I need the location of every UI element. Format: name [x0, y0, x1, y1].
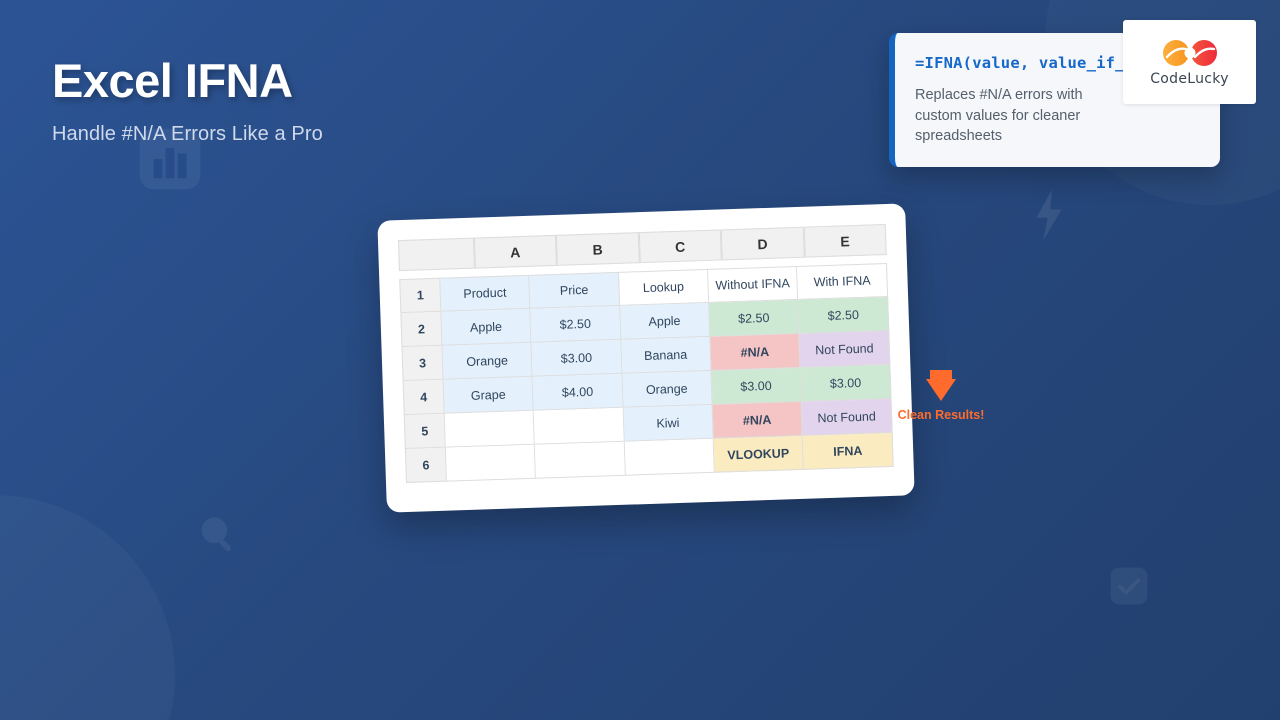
cell-D4[interactable]: $3.00 [711, 368, 801, 405]
row-number-cell[interactable]: 2 [400, 312, 442, 347]
spreadsheet-grid-body: 1ProductPriceLookupWithout IFNAWith IFNA… [399, 263, 893, 483]
cell-B6[interactable] [535, 442, 625, 479]
down-arrow-icon [926, 379, 956, 401]
cell-A3[interactable]: Orange [442, 343, 532, 380]
cell-A1[interactable]: Product [440, 275, 530, 312]
row-number-cell[interactable]: 5 [404, 414, 446, 449]
cell-E2[interactable]: $2.50 [798, 297, 889, 334]
formula-description: Replaces #N/A errors with custom values … [915, 85, 1105, 147]
cell-A2[interactable]: Apple [441, 309, 531, 346]
cell-B2[interactable]: $2.50 [531, 306, 621, 343]
page-subtitle: Handle #N/A Errors Like a Pro [52, 123, 672, 146]
cell-C4[interactable]: Orange [622, 371, 712, 408]
page-title: Excel IFNA [52, 56, 672, 107]
cell-B5[interactable] [534, 408, 624, 445]
column-header-b[interactable]: B [556, 232, 639, 266]
cell-A5[interactable] [445, 411, 535, 448]
cell-B4[interactable]: $4.00 [533, 374, 623, 411]
row-number-cell[interactable]: 6 [405, 448, 447, 483]
annotation-label: Clean Results! [893, 408, 989, 422]
clean-results-annotation: Clean Results! [893, 370, 989, 422]
cell-D6[interactable]: VLOOKUP [714, 436, 804, 473]
row-number-cell[interactable]: 4 [403, 380, 445, 415]
cell-A4[interactable]: Grape [444, 377, 534, 414]
column-header-c[interactable]: C [638, 229, 721, 263]
codelucky-watermark: CodeLucky [1123, 20, 1256, 104]
cell-D5[interactable]: #N/A [712, 402, 802, 439]
cell-B1[interactable]: Price [529, 272, 619, 309]
watermark-label: CodeLucky [1150, 71, 1229, 87]
cell-C5[interactable]: Kiwi [623, 405, 713, 442]
background-circle-bottom-left [0, 495, 175, 720]
cell-E1[interactable]: With IFNA [797, 263, 888, 300]
cell-B3[interactable]: $3.00 [532, 340, 622, 377]
cell-C1[interactable]: Lookup [619, 269, 709, 306]
column-header-d[interactable]: D [721, 227, 804, 261]
column-header-a[interactable]: A [474, 235, 557, 269]
cell-D2[interactable]: $2.50 [709, 300, 799, 337]
cell-E3[interactable]: Not Found [799, 331, 890, 368]
row-number-cell[interactable]: 1 [399, 278, 441, 313]
cell-C2[interactable]: Apple [620, 303, 710, 340]
cell-D3[interactable]: #N/A [710, 334, 800, 371]
cell-C6[interactable] [624, 439, 714, 476]
infinity-leaf-logo-icon [1159, 37, 1221, 74]
cell-D1[interactable]: Without IFNA [708, 266, 798, 303]
cell-C3[interactable]: Banana [621, 337, 711, 374]
spreadsheet-grid: 1ProductPriceLookupWithout IFNAWith IFNA… [399, 263, 893, 483]
cell-E4[interactable]: $3.00 [801, 365, 892, 402]
column-header-e[interactable]: E [803, 224, 886, 258]
hero-heading-group: Excel IFNA Handle #N/A Errors Like a Pro [52, 56, 672, 146]
sheet-corner-cell[interactable] [398, 238, 475, 271]
cell-A6[interactable] [446, 445, 536, 482]
cell-E6[interactable]: IFNA [803, 433, 894, 470]
down-arrow-stem [930, 370, 952, 379]
spreadsheet-card: A B C D E 1ProductPriceLookupWithout IFN… [377, 203, 914, 512]
cell-E5[interactable]: Not Found [802, 399, 893, 436]
row-number-cell[interactable]: 3 [402, 346, 444, 381]
